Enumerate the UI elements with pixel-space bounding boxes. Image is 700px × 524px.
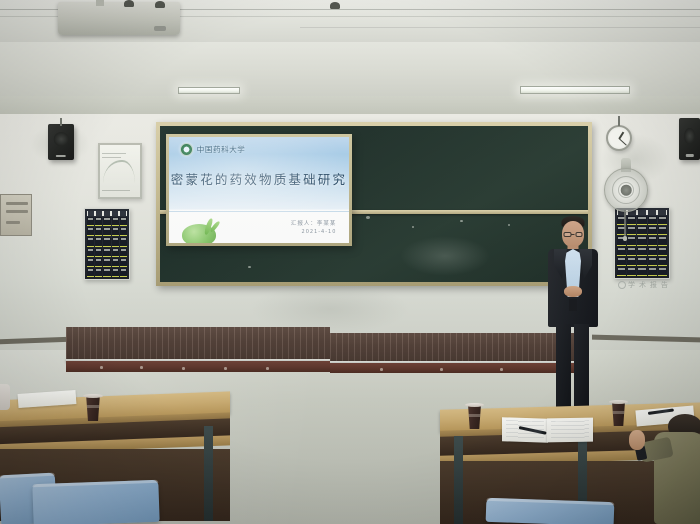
- eyeglasses-icon: [564, 232, 583, 237]
- speaker-badge: [685, 154, 693, 157]
- presenter-hands: [564, 286, 582, 297]
- notebook-open[interactable]: [502, 418, 592, 442]
- stage-platform-left: [66, 327, 330, 361]
- speaker-left: [48, 124, 74, 160]
- electrical-cabinet[interactable]: [0, 194, 32, 236]
- chair-right[interactable]: [486, 498, 615, 524]
- presenter-legs: [540, 324, 606, 416]
- speaker-cone: [684, 128, 696, 144]
- wall-clock: [606, 125, 632, 151]
- stage-front-face-left: [66, 361, 330, 372]
- chair-left-b[interactable]: [32, 480, 159, 524]
- partial-figure-left-edge: [0, 384, 10, 410]
- plaque-text: 学 术 报 告: [628, 280, 669, 290]
- fan-pull-cord[interactable]: [624, 210, 626, 236]
- speaker-right: [679, 118, 700, 160]
- lanyard-badge: [569, 299, 577, 311]
- ceiling-hook: [155, 1, 165, 8]
- slide-footer-panel: 汇报人：李某某 2021-4-10: [169, 211, 349, 243]
- photo-scene: 学 术 报 告 中国药科大学 密蒙花的药效物质基础研究: [0, 0, 700, 524]
- tube-light-left: [178, 87, 240, 94]
- projection-screen: 中国药科大学 密蒙花的药效物质基础研究 汇报人：李某某 2021-4-10: [166, 134, 352, 246]
- slide-university-name: 中国药科大学: [197, 144, 246, 155]
- desk-leg: [204, 426, 213, 521]
- slide-title: 密蒙花的药效物质基础研究: [169, 169, 349, 188]
- speaker-badge: [56, 155, 66, 158]
- slide-byline: 汇报人：李某某: [291, 219, 337, 227]
- seated-note-taker: [628, 414, 700, 524]
- suit-lapel-right: [579, 249, 592, 279]
- framed-poster: [98, 143, 142, 199]
- speaker-cone: [54, 132, 69, 146]
- ceiling-hook: [330, 2, 340, 9]
- university-seal-logo: [180, 143, 193, 156]
- ceiling-hook: [124, 0, 134, 7]
- projector-mount: [96, 0, 104, 6]
- tube-light-right: [520, 86, 630, 94]
- presenter-leg-right: [574, 324, 589, 416]
- presenter-leg-left: [556, 324, 571, 416]
- slide-header: 中国药科大学: [180, 143, 246, 156]
- wall-fan[interactable]: [604, 168, 648, 212]
- presentation-slide: 中国药科大学 密蒙花的药效物质基础研究 汇报人：李某某 2021-4-10: [169, 137, 349, 243]
- fan-hub: [621, 185, 632, 196]
- standing-presenter: [540, 216, 606, 424]
- clock-hand-minute: [619, 138, 627, 145]
- plaque-seal-icon: [618, 281, 626, 289]
- projector-lens: [154, 26, 166, 31]
- grid-poster-left: [84, 208, 130, 280]
- paper-cup-1-rim: [83, 394, 103, 398]
- wall-plaque: 学 术 报 告: [618, 280, 669, 290]
- paper-cup-3-rim: [609, 400, 628, 404]
- green-leaf-graphic: [180, 217, 241, 239]
- paper-cup-2-rim: [465, 403, 484, 407]
- desk-leg: [454, 436, 463, 524]
- seated-person-hand: [629, 430, 645, 450]
- suit-lapel-left: [554, 249, 567, 279]
- slide-date: 2021-4-10: [302, 229, 337, 235]
- grid-poster-right: [614, 207, 670, 279]
